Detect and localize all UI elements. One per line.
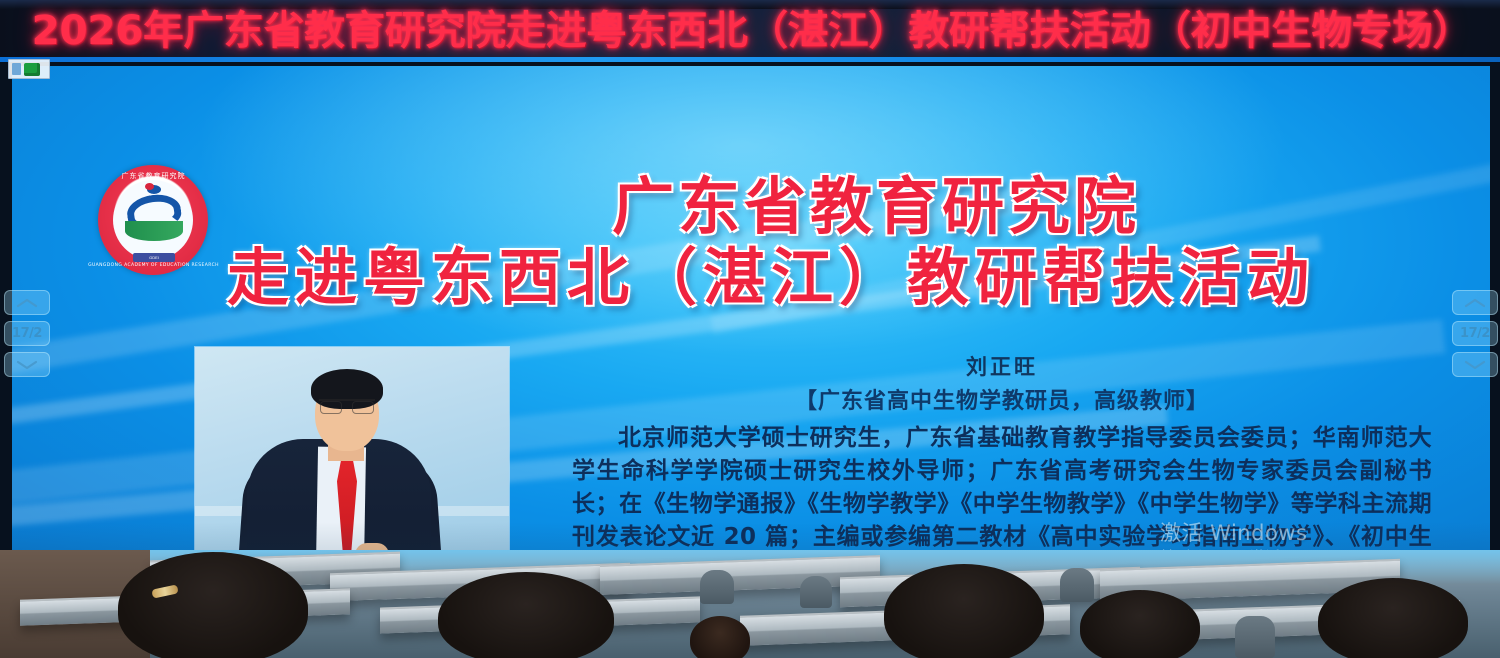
chevron-down-icon [16,360,38,370]
audience-head [690,616,750,658]
previous-page-button[interactable] [4,290,50,315]
chevron-up-icon [1464,298,1486,308]
slide-title-line1: 广东省教育研究院 [12,174,1490,240]
screenshot-stage: 2026年广东省教育研究院走进粤东西北（湛江）教研帮扶活动（初中生物专场） 广东… [0,0,1500,658]
lecture-hall-audience [0,550,1500,658]
pager-controls-left: 17/2 [4,290,50,377]
presenter-name: 刘正旺 [572,352,1432,382]
audience-head [1080,590,1200,658]
chevron-up-icon [16,298,38,308]
audience-head [1318,578,1468,658]
audience-head [438,572,614,658]
page-indicator-right[interactable]: 17/2 [1452,321,1498,346]
next-page-button[interactable] [4,352,50,377]
audience-head [884,564,1044,658]
taskbar-icon-glyph-blue [12,63,21,75]
presenter-glasses-icon [319,399,375,413]
next-page-button[interactable] [1452,352,1498,377]
previous-page-button[interactable] [1452,290,1498,315]
taskbar-icon-glyph-green [24,63,40,76]
presenter-role: 【广东省高中生物学教研员，高级教师】 [572,382,1432,422]
taskbar-app-icon[interactable] [8,59,50,79]
chevron-down-icon [1464,360,1486,370]
led-banner: 2026年广东省教育研究院走进粤东西北（湛江）教研帮扶活动（初中生物专场） [0,0,1500,62]
chair-back [800,576,832,608]
slide-title: 广东省教育研究院 走进粤东西北（湛江）教研帮扶活动 [12,174,1490,316]
audience-head [118,552,308,658]
chair-back [1060,568,1094,602]
chair-back [1235,616,1275,658]
projection-screen: 广东省教育研究院 GDEI GUANGDONG ACADEMY OF EDUCA… [12,66,1490,586]
chair-back [700,570,734,604]
slide-title-line2: 走进粤东西北（湛江）教研帮扶活动 [12,240,1490,316]
pager-controls-right: 17/2 [1452,290,1498,377]
page-indicator-left[interactable]: 17/2 [4,321,50,346]
led-banner-text: 2026年广东省教育研究院走进粤东西北（湛江）教研帮扶活动（初中生物专场） [0,8,1500,54]
